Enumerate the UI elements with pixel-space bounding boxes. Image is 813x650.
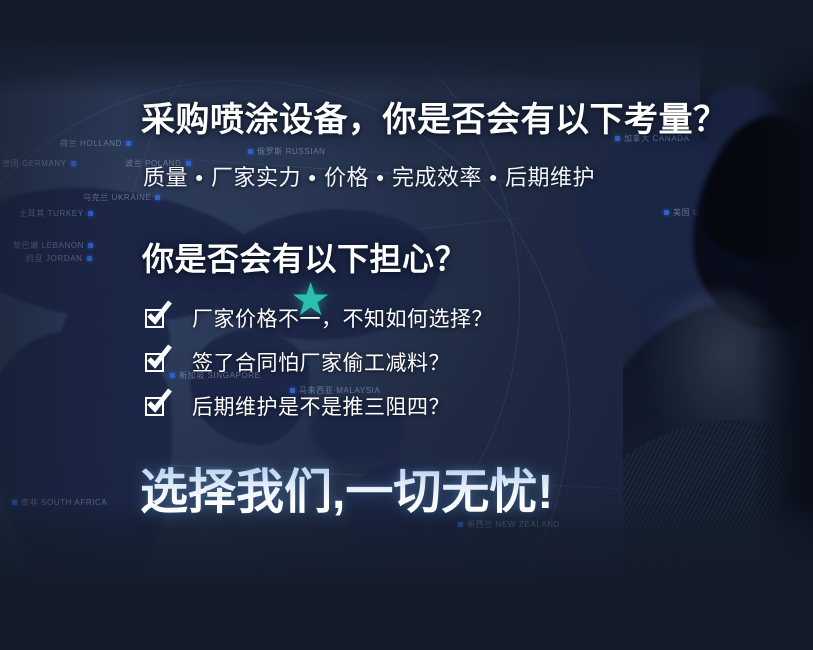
checkbox-checked-icon [145, 353, 164, 372]
checklist-item: 后期维护是不是推三阻四？ [145, 393, 493, 419]
feature-separator: ● [188, 169, 211, 185]
checkbox-checked-icon [145, 397, 164, 416]
checklist-item-label: 厂家价格不一，不知如何选择？ [192, 303, 493, 333]
checklist-item-label: 签了合同怕厂家偷工减料？ [192, 347, 450, 377]
banner-copy: 采购喷涂设备，你是否会有以下考量？ 质量●厂家实力●价格●完成效率●后期维护 你… [0, 0, 813, 650]
page-title: 采购喷涂设备，你是否会有以下考量？ [141, 92, 728, 141]
feature-item: 完成效率 [392, 165, 482, 190]
feature-separator: ● [369, 169, 392, 185]
checklist-item: 签了合同怕厂家偷工减料？ [145, 349, 493, 375]
feature-separator: ● [301, 169, 324, 185]
feature-separator: ● [482, 169, 505, 185]
checkbox-checked-icon [145, 309, 164, 328]
closing-headline: 选择我们,一切无忧! [140, 452, 553, 522]
feature-item: 后期维护 [505, 165, 595, 190]
section-subtitle: 你是否会有以下担心？ [142, 234, 467, 280]
feature-item: 价格 [324, 165, 369, 190]
feature-list: 质量●厂家实力●价格●完成效率●后期维护 [143, 160, 595, 192]
checklist-item-label: 后期维护是不是推三阻四？ [192, 391, 450, 421]
feature-item: 厂家实力 [211, 165, 301, 190]
concern-checklist: 厂家价格不一，不知如何选择？签了合同怕厂家偷工减料？后期维护是不是推三阻四？ [145, 305, 493, 419]
promo-banner: 荷兰 HOLLAND波兰 POLAND德国 GERMANY乌克兰 UKRAINE… [0, 0, 813, 650]
feature-item: 质量 [143, 165, 188, 190]
checklist-item: 厂家价格不一，不知如何选择？ [145, 305, 493, 331]
